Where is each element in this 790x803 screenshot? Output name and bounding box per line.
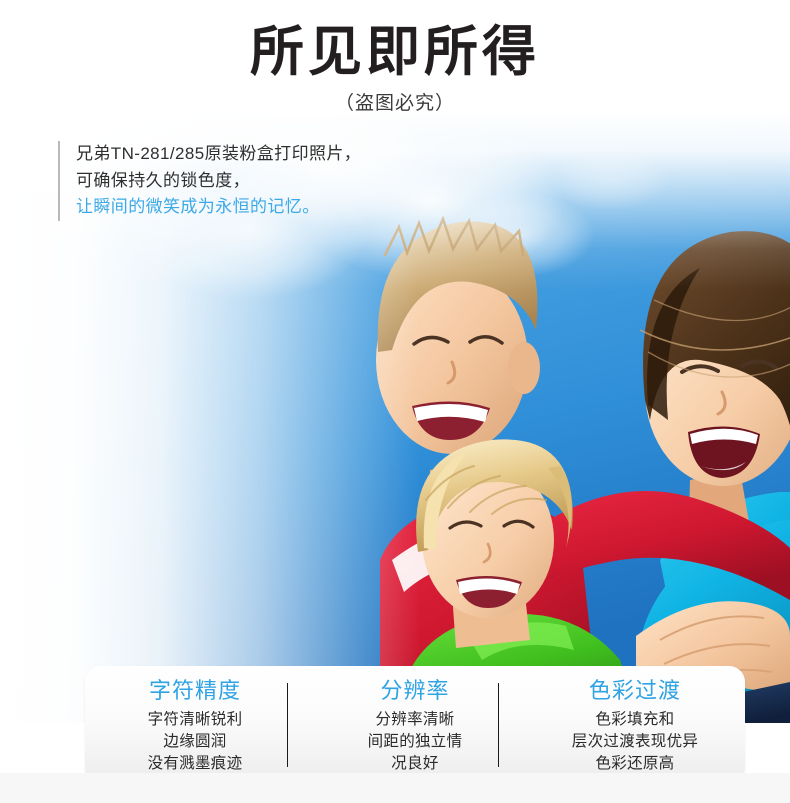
- feature-line: 没有溅墨痕迹: [85, 753, 305, 775]
- feature-line: 边缘圆润: [85, 731, 305, 753]
- feature-line: 分辨率清晰: [305, 709, 525, 731]
- feature-line: 色彩填充和: [525, 709, 745, 731]
- feature-body: 字符清晰锐利 边缘圆润 没有溅墨痕迹: [85, 709, 305, 775]
- page-subtitle: （盗图必究）: [0, 92, 790, 116]
- feature-heading: 分辨率: [305, 677, 525, 707]
- feature-card: 字符精度 字符清晰锐利 边缘圆润 没有溅墨痕迹 分辨率 分辨率清晰 间距的独立情…: [85, 666, 745, 784]
- promo-banner: 所见即所得 （盗图必究） 兄弟TN-281/285原装粉盒打印照片， 可确保持久…: [0, 0, 790, 803]
- description-line-3: 让瞬间的微笑成为永恒的记忆。: [76, 194, 361, 221]
- feature-line: 字符清晰锐利: [85, 709, 305, 731]
- bottom-strip: [0, 773, 790, 803]
- description-line-2: 可确保持久的锁色度，: [76, 168, 361, 195]
- column-divider: [287, 683, 288, 767]
- feature-column-color-gradation: 色彩过渡 色彩填充和 层次过渡表现优异 色彩还原高: [525, 666, 745, 775]
- feature-heading: 色彩过渡: [525, 677, 745, 707]
- feature-column-character-precision: 字符精度 字符清晰锐利 边缘圆润 没有溅墨痕迹: [85, 666, 305, 775]
- feature-body: 分辨率清晰 间距的独立情 况良好: [305, 709, 525, 775]
- feature-column-resolution: 分辨率 分辨率清晰 间距的独立情 况良好: [305, 666, 525, 775]
- feature-heading: 字符精度: [85, 677, 305, 707]
- description-line-1: 兄弟TN-281/285原装粉盒打印照片，: [76, 141, 361, 168]
- feature-body: 色彩填充和 层次过渡表现优异 色彩还原高: [525, 709, 745, 775]
- feature-line: 色彩还原高: [525, 753, 745, 775]
- feature-line: 层次过渡表现优异: [525, 731, 745, 753]
- product-description: 兄弟TN-281/285原装粉盒打印照片， 可确保持久的锁色度， 让瞬间的微笑成…: [58, 141, 361, 221]
- feature-line: 间距的独立情: [305, 731, 525, 753]
- page-title: 所见即所得: [0, 22, 790, 82]
- feature-line: 况良好: [305, 753, 525, 775]
- column-divider: [498, 683, 499, 767]
